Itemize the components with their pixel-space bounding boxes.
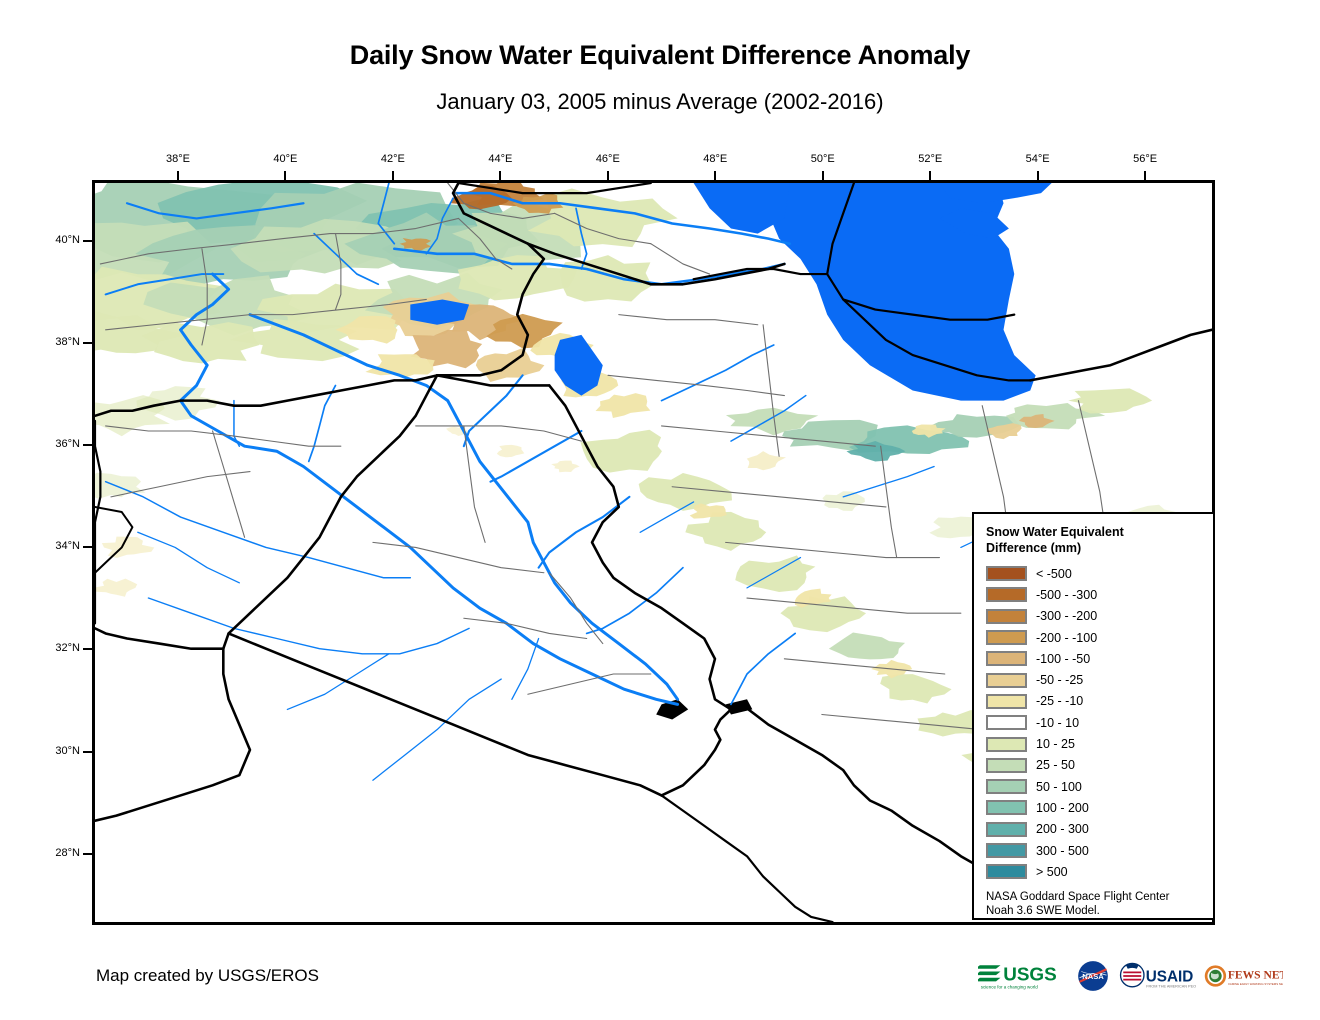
lon-tick [284,171,286,180]
legend-swatch [986,800,1027,815]
lat-label: 36°N [36,438,80,450]
legend-label: -10 - 10 [1036,716,1079,730]
lat-tick [83,240,92,242]
legend-entry: -10 - 10 [986,712,1213,733]
legend-source-line2: Noah 3.6 SWE Model. [986,904,1201,918]
legend-swatch [986,822,1027,837]
legend-entry: > 500 [986,861,1213,882]
lon-tick [714,171,716,180]
lat-label: 28°N [36,847,80,859]
lat-tick [83,444,92,446]
lat-label: 34°N [36,540,80,552]
legend-entry: -200 - -100 [986,627,1213,648]
svg-text:NASA: NASA [1082,972,1104,981]
legend-swatch [986,630,1027,645]
legend-label: > 500 [1036,865,1068,879]
lon-label: 48°E [696,153,734,165]
lon-tick [499,171,501,180]
legend-entry: -50 - -25 [986,669,1213,690]
legend-entry: 10 - 25 [986,733,1213,754]
svg-text:FAMINE EARLY WARNING SYSTEMS N: FAMINE EARLY WARNING SYSTEMS NETWORK [1228,982,1283,986]
usgs-logo: USGS science for a changing world [978,958,1068,994]
fewsnet-logo: FEWS NET FAMINE EARLY WARNING SYSTEMS NE… [1203,958,1283,994]
legend-title-line2: Difference (mm) [986,540,1186,556]
lon-label: 40°E [266,153,304,165]
lat-tick [83,648,92,650]
legend-swatch [986,609,1027,624]
legend-label: 25 - 50 [1036,758,1075,772]
lon-label: 42°E [374,153,412,165]
lon-label: 56°E [1126,153,1164,165]
legend-entry: -500 - -300 [986,584,1213,605]
lon-label: 44°E [481,153,519,165]
legend-entry: 200 - 300 [986,819,1213,840]
legend-swatch [986,694,1027,709]
legend-entry: 50 - 100 [986,776,1213,797]
legend-entry: 25 - 50 [986,755,1213,776]
legend-swatch [986,651,1027,666]
lat-label: 40°N [36,234,80,246]
legend-entry: -100 - -50 [986,648,1213,669]
legend-label: -300 - -200 [1036,609,1097,623]
legend-entries: < -500-500 - -300-300 - -200-200 - -100-… [986,563,1213,882]
lon-label: 46°E [589,153,627,165]
lon-tick [177,171,179,180]
legend-label: 10 - 25 [1036,737,1075,751]
lat-label: 30°N [36,745,80,757]
legend-title: Snow Water Equivalent Difference (mm) [986,524,1186,556]
legend-swatch [986,673,1027,688]
lon-tick [1144,171,1146,180]
legend-swatch [986,737,1027,752]
legend-label: 50 - 100 [1036,780,1082,794]
lat-tick [83,546,92,548]
legend-label: 100 - 200 [1036,801,1089,815]
lat-tick [83,342,92,344]
legend-swatch [986,566,1027,581]
legend-source-line1: NASA Goddard Space Flight Center [986,890,1201,904]
lat-label: 38°N [36,336,80,348]
legend-swatch [986,864,1027,879]
lon-label: 54°E [1019,153,1057,165]
lat-label: 32°N [36,642,80,654]
svg-text:FEWS NET: FEWS NET [1228,970,1283,982]
legend-label: -25 - -10 [1036,694,1083,708]
map-legend: Snow Water Equivalent Difference (mm) < … [972,512,1215,920]
legend-label: -200 - -100 [1036,631,1097,645]
legend-label: 300 - 500 [1036,844,1089,858]
logo-strip: USGS science for a changing world NASA U… [978,957,1283,995]
legend-label: -100 - -50 [1036,652,1090,666]
lon-tick [1037,171,1039,180]
map-credit: Map created by USGS/EROS [96,966,319,986]
svg-text:USAID: USAID [1146,968,1194,985]
legend-label: 200 - 300 [1036,822,1089,836]
usaid-logo: USAID FROM THE AMERICAN PEOPLE [1118,958,1196,994]
legend-entry: 100 - 200 [986,797,1213,818]
lon-tick [822,171,824,180]
legend-swatch [986,779,1027,794]
legend-entry: < -500 [986,563,1213,584]
legend-label: -50 - -25 [1036,673,1083,687]
legend-entry: 300 - 500 [986,840,1213,861]
lon-label: 52°E [911,153,949,165]
title-block: Daily Snow Water Equivalent Difference A… [0,0,1320,115]
svg-text:science for a changing world: science for a changing world [981,985,1039,990]
legend-entry: -300 - -200 [986,606,1213,627]
page-title: Daily Snow Water Equivalent Difference A… [0,0,1320,71]
legend-swatch [986,758,1027,773]
legend-title-line1: Snow Water Equivalent [986,524,1186,540]
svg-text:USGS: USGS [1003,965,1057,986]
legend-swatch [986,587,1027,602]
lon-tick [929,171,931,180]
legend-source: NASA Goddard Space Flight Center Noah 3.… [986,890,1201,918]
legend-label: -500 - -300 [1036,588,1097,602]
legend-swatch [986,715,1027,730]
lat-tick [83,853,92,855]
legend-swatch [986,843,1027,858]
legend-entry: -25 - -10 [986,691,1213,712]
lon-label: 38°E [159,153,197,165]
lat-tick [83,751,92,753]
legend-label: < -500 [1036,567,1072,581]
svg-text:FROM THE AMERICAN PEOPLE: FROM THE AMERICAN PEOPLE [1146,985,1196,989]
lon-tick [392,171,394,180]
lon-label: 50°E [804,153,842,165]
nasa-logo: NASA [1075,958,1111,994]
page-subtitle: January 03, 2005 minus Average (2002-201… [0,71,1320,115]
lon-tick [607,171,609,180]
